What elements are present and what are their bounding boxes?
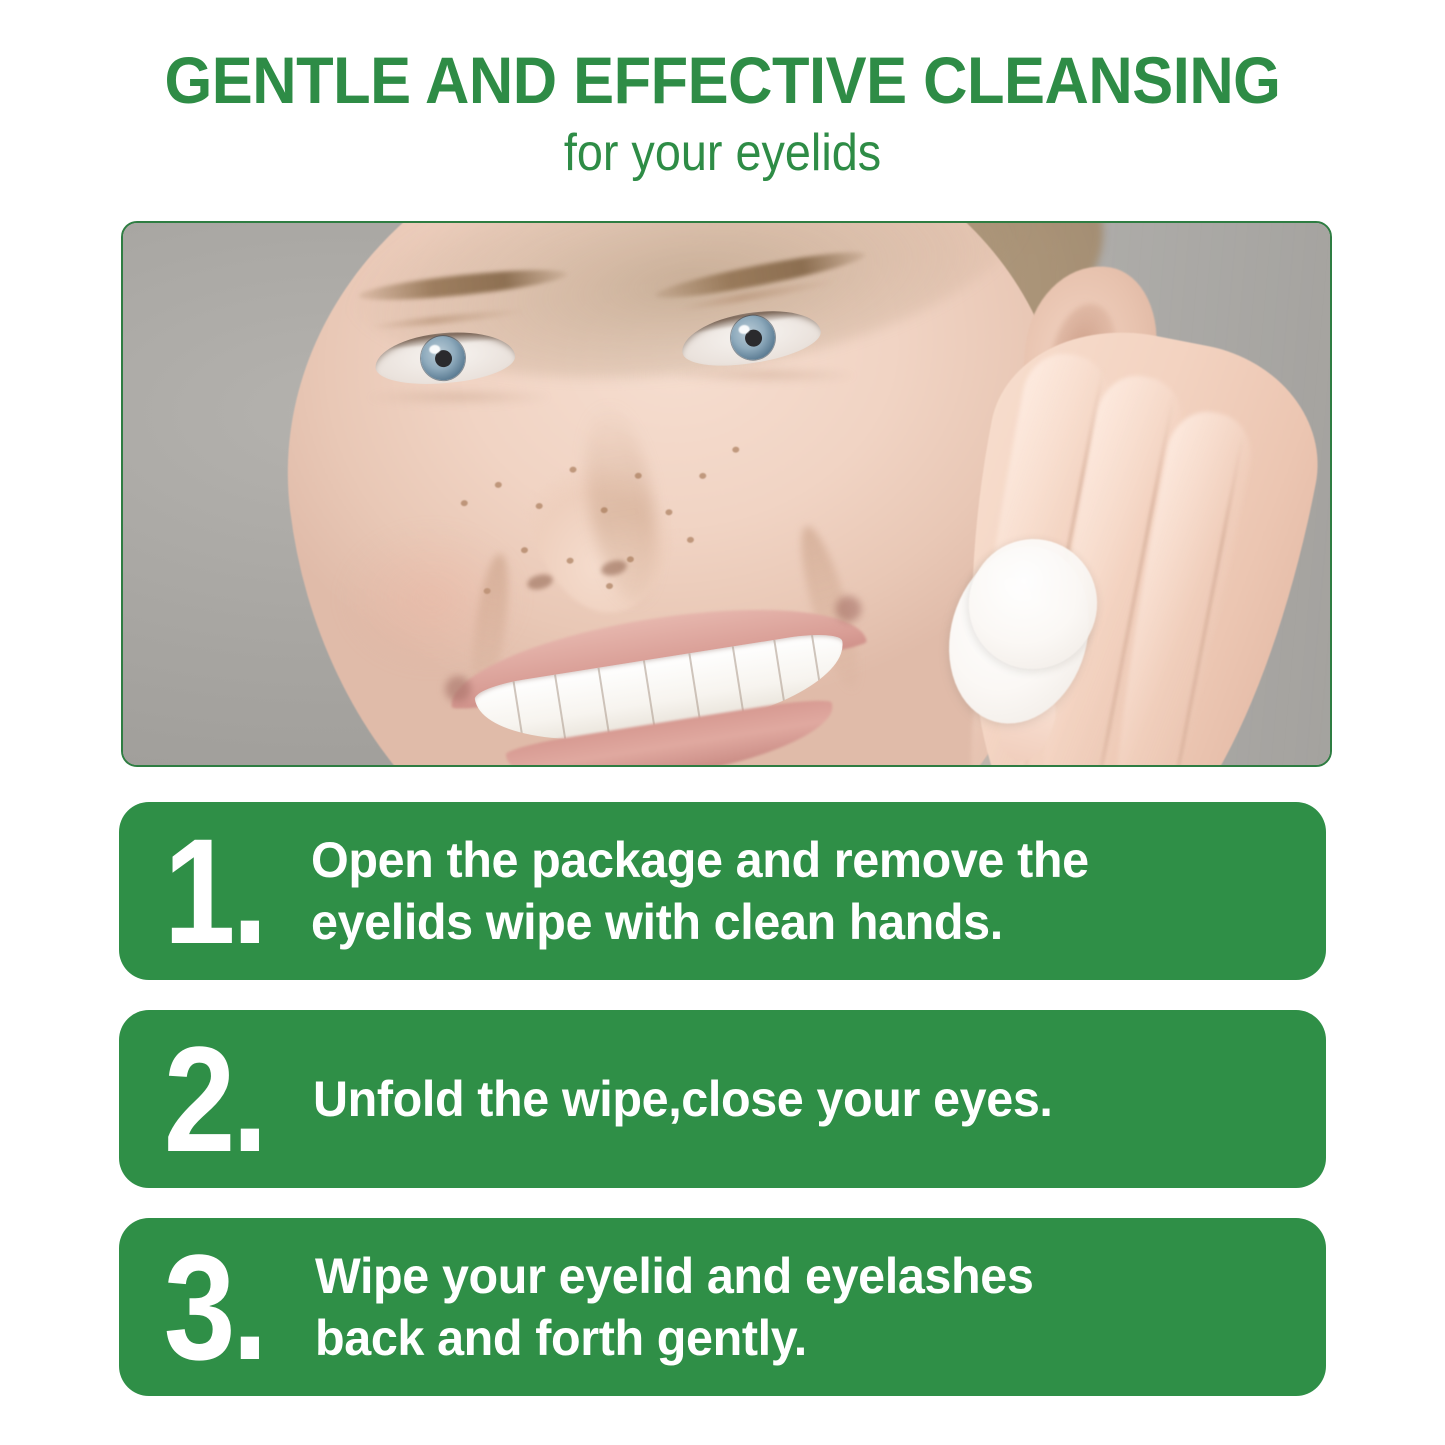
step-text-2: Unfold the wipe,close your eyes. (313, 1068, 1296, 1130)
hero-photo (121, 221, 1332, 767)
step-number-3: 3. (119, 1232, 291, 1382)
step-item-1: 1. Open the package and remove the eyeli… (119, 802, 1326, 980)
step-item-3: 3. Wipe your eyelid and eyelashes back a… (119, 1218, 1326, 1396)
step-text-3: Wipe your eyelid and eyelashes back and … (315, 1245, 1296, 1369)
page-subtitle: for your eyelids (72, 122, 1373, 184)
step-number-2: 2. (119, 1024, 291, 1174)
under-eye-shadow (369, 391, 549, 405)
product-infographic: GENTLE AND EFFECTIVE CLEANSING for your … (0, 0, 1445, 1445)
step-text-1: Open the package and remove the eyelids … (311, 829, 1296, 953)
page-title: GENTLE AND EFFECTIVE CLEANSING (51, 44, 1395, 116)
under-eye-shadow (675, 369, 855, 383)
hero-photo-illustration (123, 223, 1330, 765)
step-number-1: 1. (119, 816, 291, 966)
step-item-2: 2. Unfold the wipe,close your eyes. (119, 1010, 1326, 1188)
